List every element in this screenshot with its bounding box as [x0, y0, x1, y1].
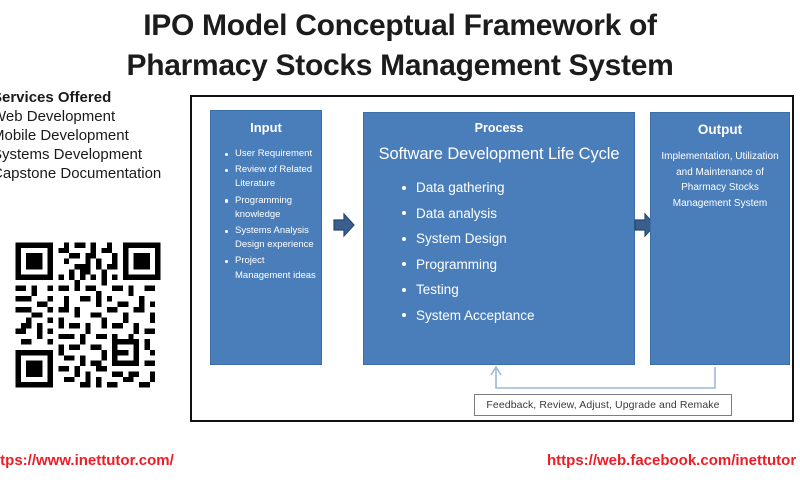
website-url[interactable]: https://www.inettutor.com/ [0, 452, 174, 469]
process-item-list: Data gathering Data analysis System Desi… [364, 178, 634, 325]
service-item-web-development: Web Development [0, 107, 192, 126]
output-box: Output Implementation, Utilization and M… [650, 112, 790, 365]
process-box-heading: Process [364, 121, 634, 135]
input-item: Programming knowledge [211, 194, 321, 222]
input-box-heading: Input [211, 120, 321, 135]
process-item: System Design [364, 229, 634, 248]
process-item: System Acceptance [364, 306, 634, 325]
services-offered-heading: Services Offered [0, 88, 192, 107]
service-item-systems-development: Systems Development [0, 145, 192, 164]
process-item: Data analysis [364, 204, 634, 223]
input-item: Review of Related Literature [211, 163, 321, 191]
input-box: Input User Requirement Review of Related… [210, 110, 322, 365]
services-offered-panel: Services Offered Web Development Mobile … [0, 88, 192, 183]
feedback-label-box: Feedback, Review, Adjust, Upgrade and Re… [474, 394, 732, 416]
input-item-list: User Requirement Review of Related Liter… [211, 147, 321, 283]
process-item: Programming [364, 255, 634, 274]
process-item: Testing [364, 280, 634, 299]
process-item: Data gathering [364, 178, 634, 197]
input-item: Project Management ideas [211, 254, 321, 282]
input-item: User Requirement [211, 147, 321, 161]
page-title-line-1: IPO Model Conceptual Framework of [0, 6, 800, 46]
qr-code [10, 231, 166, 399]
process-box-subtitle: Software Development Life Cycle [364, 145, 634, 164]
page-title-line-2: Pharmacy Stocks Management System [0, 46, 800, 86]
page-title: IPO Model Conceptual Framework of Pharma… [0, 6, 800, 86]
feedback-label-text: Feedback, Review, Adjust, Upgrade and Re… [486, 399, 719, 411]
service-item-capstone-documentation: Capstone Documentation [0, 164, 192, 183]
output-box-text: Implementation, Utilization and Maintena… [651, 149, 789, 211]
process-box: Process Software Development Life Cycle … [363, 112, 635, 365]
output-box-heading: Output [651, 122, 789, 137]
facebook-url[interactable]: https://web.facebook.com/inettutor [547, 452, 796, 469]
service-item-mobile-development: Mobile Development [0, 126, 192, 145]
input-item: Systems Analysis Design experience [211, 224, 321, 252]
feedback-arrow-icon [480, 355, 740, 395]
right-arrow-icon [333, 212, 355, 238]
